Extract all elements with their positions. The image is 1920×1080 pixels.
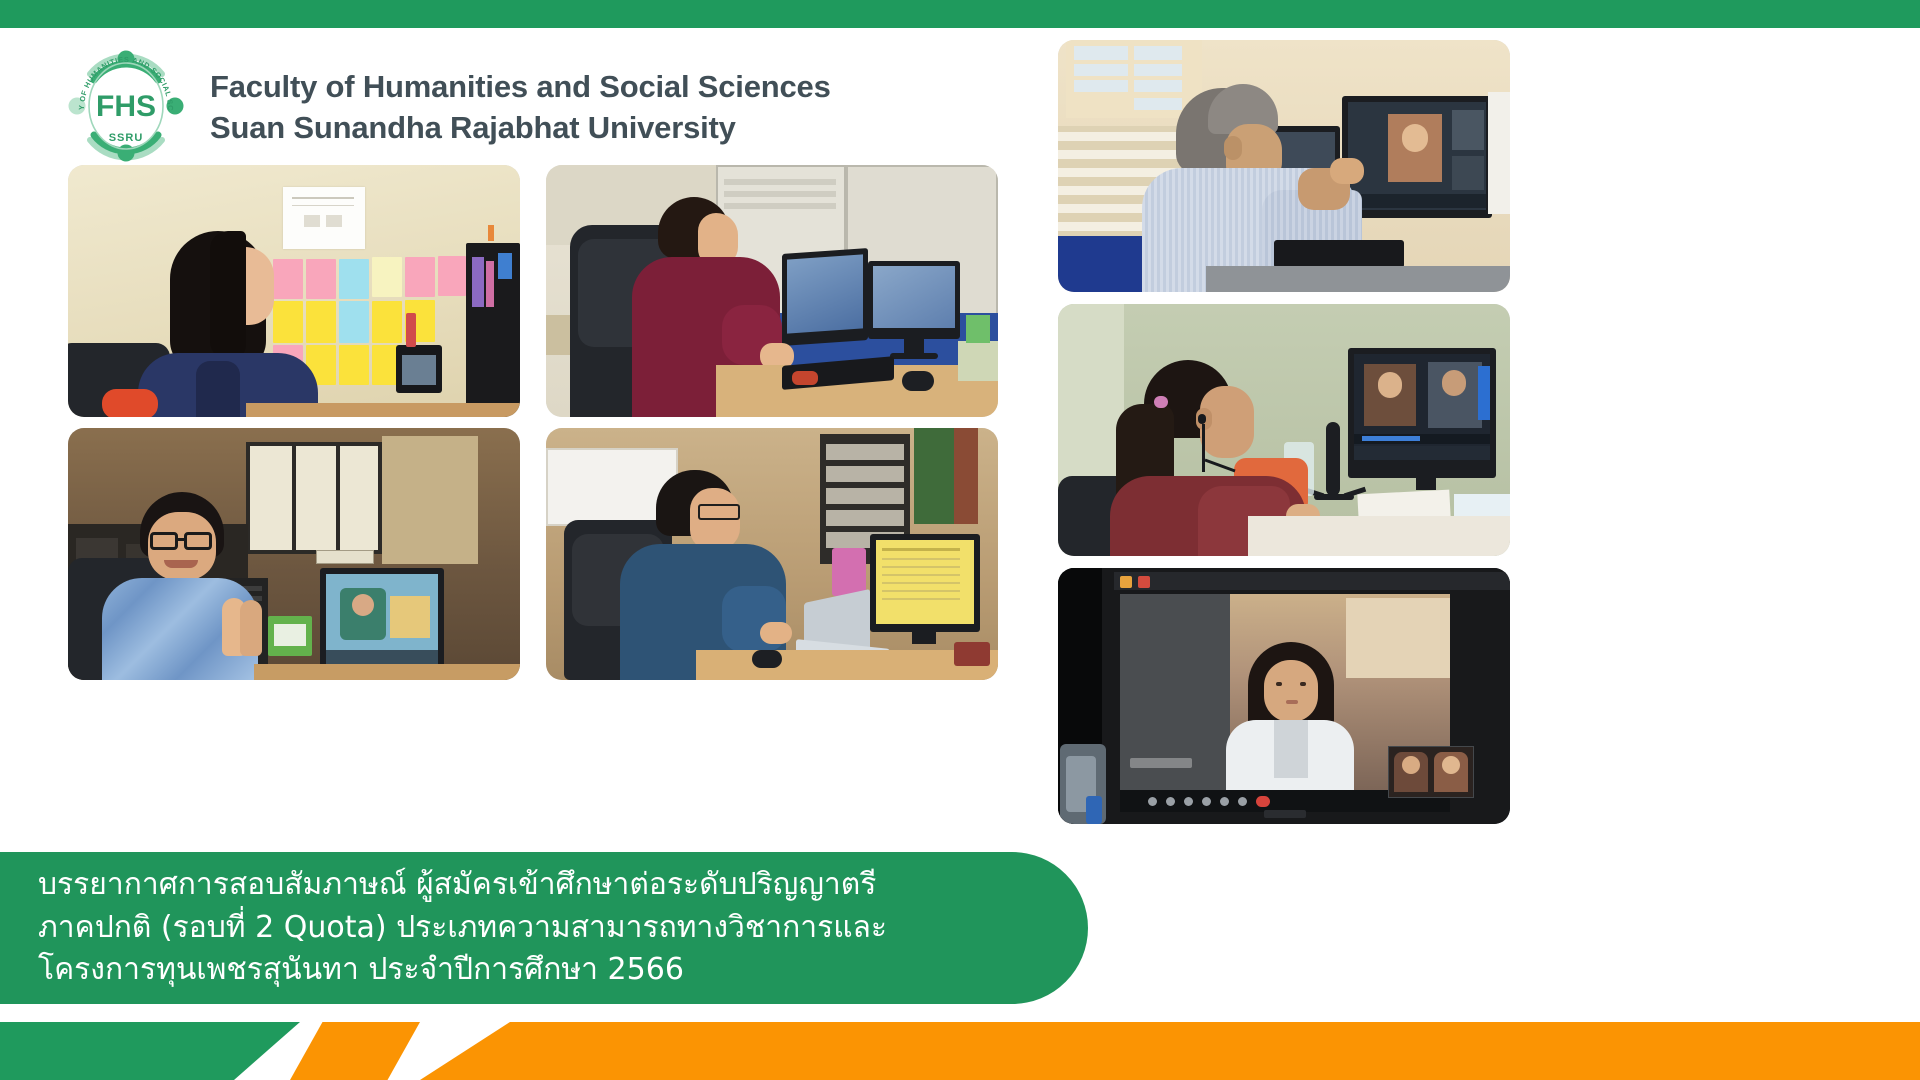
- fhs-logo: FACULTY OF HUMANITIES AND SOCIAL SCIENCE…: [60, 40, 192, 172]
- fhs-logo-icon: FACULTY OF HUMANITIES AND SOCIAL SCIENCE…: [60, 40, 192, 172]
- caption-line-1: บรรยากาศการสอบสัมภาษณ์ ผู้สมัครเข้าศึกษา…: [38, 864, 1028, 907]
- caption-line-3: โครงการทุนเพชรสุนันทา ประจำปีการศึกษา 25…: [38, 949, 1028, 992]
- header-title-block: Faculty of Humanities and Social Science…: [210, 63, 831, 149]
- photo-video-call-applicant-screen: [1058, 568, 1510, 824]
- photo-interviewer-blue-patterned-shirt: [68, 428, 520, 680]
- orange-stripe-segment: [290, 1022, 420, 1080]
- photo-interviewer-maroon-shirt: [546, 165, 998, 417]
- page-title-line-2: Suan Sunandha Rajabhat University: [210, 108, 831, 149]
- top-green-bar: [0, 0, 1920, 28]
- photo-interview-female-student: [68, 165, 520, 417]
- orange-main-segment: [420, 1022, 1920, 1080]
- logo-monogram: FHS: [96, 90, 156, 123]
- header: FACULTY OF HUMANITIES AND SOCIAL SCIENCE…: [60, 40, 831, 172]
- photo-interviewer-young-man-glasses: [546, 428, 998, 680]
- photo-senior-interviewer-video-call: [1058, 40, 1510, 292]
- photo-female-interviewer-headset: [1058, 304, 1510, 556]
- caption-banner: บรรยากาศการสอบสัมภาษณ์ ผู้สมัครเข้าศึกษา…: [0, 852, 1088, 1004]
- green-slant-segment: [0, 1022, 300, 1080]
- page-title-line-1: Faculty of Humanities and Social Science…: [210, 67, 831, 108]
- logo-abbrev: SSRU: [109, 132, 144, 144]
- caption-line-2: ภาคปกติ (รอบที่ 2 Quota) ประเภทความสามาร…: [38, 907, 1028, 950]
- bottom-decor-bar: [0, 1022, 1920, 1080]
